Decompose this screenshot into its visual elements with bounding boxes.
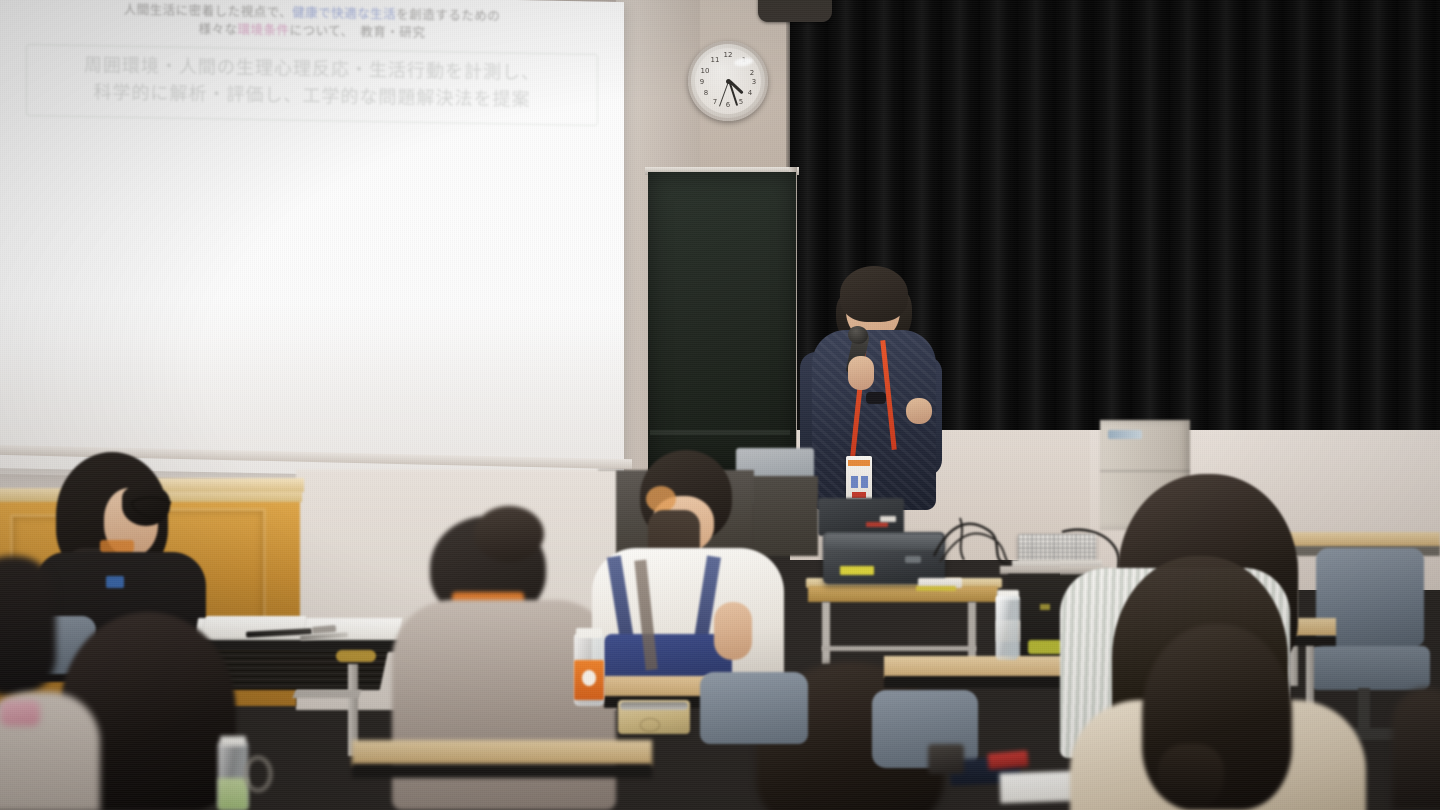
yellow-item: [1028, 640, 1062, 654]
student-left-badge: [106, 576, 124, 588]
bottle-left-handle: [244, 756, 272, 792]
front-desk-apron: [808, 586, 998, 602]
slide-line1-highlight: 健康で快適な生活: [292, 5, 396, 22]
clock-numeral-11: 11: [710, 56, 720, 64]
wall-clock: 12 1 2 3 4 5 6 7 8 9 10 11: [688, 41, 768, 121]
person-left-edge: [0, 556, 56, 696]
equipment-indicator-red: [866, 522, 888, 527]
slide-content: 人間生活に密着した視点で、健康で快適な生活を創造するための 様々な環境条件につい…: [0, 0, 624, 127]
drink-bottle-cap: [576, 628, 602, 638]
front-desk-leg-left: [822, 602, 830, 664]
front-desk-leg-right: [968, 602, 976, 664]
desk-edge-right: [884, 676, 1080, 688]
paper-sheet: [1000, 771, 1081, 804]
equipment-case-label: [840, 566, 874, 575]
pink-object: [0, 700, 40, 726]
chair-center: [700, 672, 808, 744]
student-polo-hairtie: [646, 486, 676, 512]
cabinet-label: [1108, 430, 1142, 439]
bottle-left-label: [218, 778, 248, 810]
slide-line1-part3: を創造するための: [396, 6, 500, 23]
desk-top-right: [884, 656, 1080, 678]
equipment-case-lid: [825, 534, 943, 550]
name-badge-block-2: [861, 476, 868, 488]
clock-numeral-3: 3: [749, 78, 759, 86]
clock-numeral-2: 2: [747, 69, 757, 77]
student-cream-hair-tail: [1158, 744, 1224, 810]
white-perforated-equipment-box: [1018, 534, 1096, 562]
chalk-tray: [650, 430, 790, 435]
rack-indicator-1: [1040, 604, 1050, 610]
eyeglasses-icon: [128, 492, 178, 526]
student-right-edge: [1392, 688, 1440, 810]
clock-numeral-4: 4: [745, 89, 755, 97]
presenter-hand-holding-mic: [848, 356, 874, 390]
presenter-hair: [840, 266, 908, 322]
ceiling-speaker-icon: [758, 0, 832, 22]
bottle-left-cap: [220, 736, 246, 746]
student-taupe-bun: [474, 506, 544, 562]
lecture-hall-photo: 12 1 2 3 4 5 6 7 8 9 10 11 人間生活に密着した視点で、…: [0, 0, 1440, 810]
student-polo-arm: [714, 602, 752, 660]
partition-panel-right: [752, 476, 818, 556]
drinking-glass: [996, 596, 1018, 660]
desk-rail-left: [293, 690, 362, 698]
presenter-hand-right: [906, 398, 932, 424]
slide-callout-box: 周囲環境・人間の生理心理反応・生活行動を計測し、 科学的に解析・評価し、工学的な…: [26, 44, 598, 126]
desk-edge-front-center: [352, 764, 652, 778]
desk-hook-left: [336, 650, 376, 662]
clock-numeral-9: 9: [697, 78, 707, 86]
desk-top-front-center: [352, 740, 652, 766]
slide-line1-part1: 人間生活に密着した視点で、: [124, 2, 293, 20]
equipment-remote: [880, 516, 896, 522]
cabinet-seam: [1100, 470, 1190, 472]
front-desk-rail: [822, 646, 976, 651]
clock-center-pin: [726, 79, 731, 84]
clock-numeral-12: 12: [723, 51, 733, 59]
pencil-case-logo-icon: [640, 718, 660, 732]
slide-line2-part3: について、 教育・研究: [290, 23, 426, 40]
slide-line2-highlight: 環境条件: [238, 22, 290, 38]
chalkboard: [648, 172, 796, 472]
yellow-tray-strip: [916, 586, 956, 591]
equipment-case-latch: [905, 556, 921, 563]
pen-holder: [928, 744, 964, 774]
wristwatch: [866, 392, 886, 404]
slide-line2-part1: 様々な: [199, 21, 238, 37]
pencil-case-zipper: [620, 702, 688, 710]
student-left-lanyard: [100, 540, 134, 552]
name-badge-header: [848, 460, 870, 466]
bottle-label-character-icon: [582, 670, 596, 686]
clock-numeral-10: 10: [700, 67, 710, 75]
office-chair-seat: [1310, 646, 1430, 690]
name-badge-block-1: [851, 476, 858, 488]
clock-numeral-6: 6: [723, 101, 733, 109]
red-item: [987, 750, 1028, 769]
clock-numeral-8: 8: [701, 89, 711, 97]
